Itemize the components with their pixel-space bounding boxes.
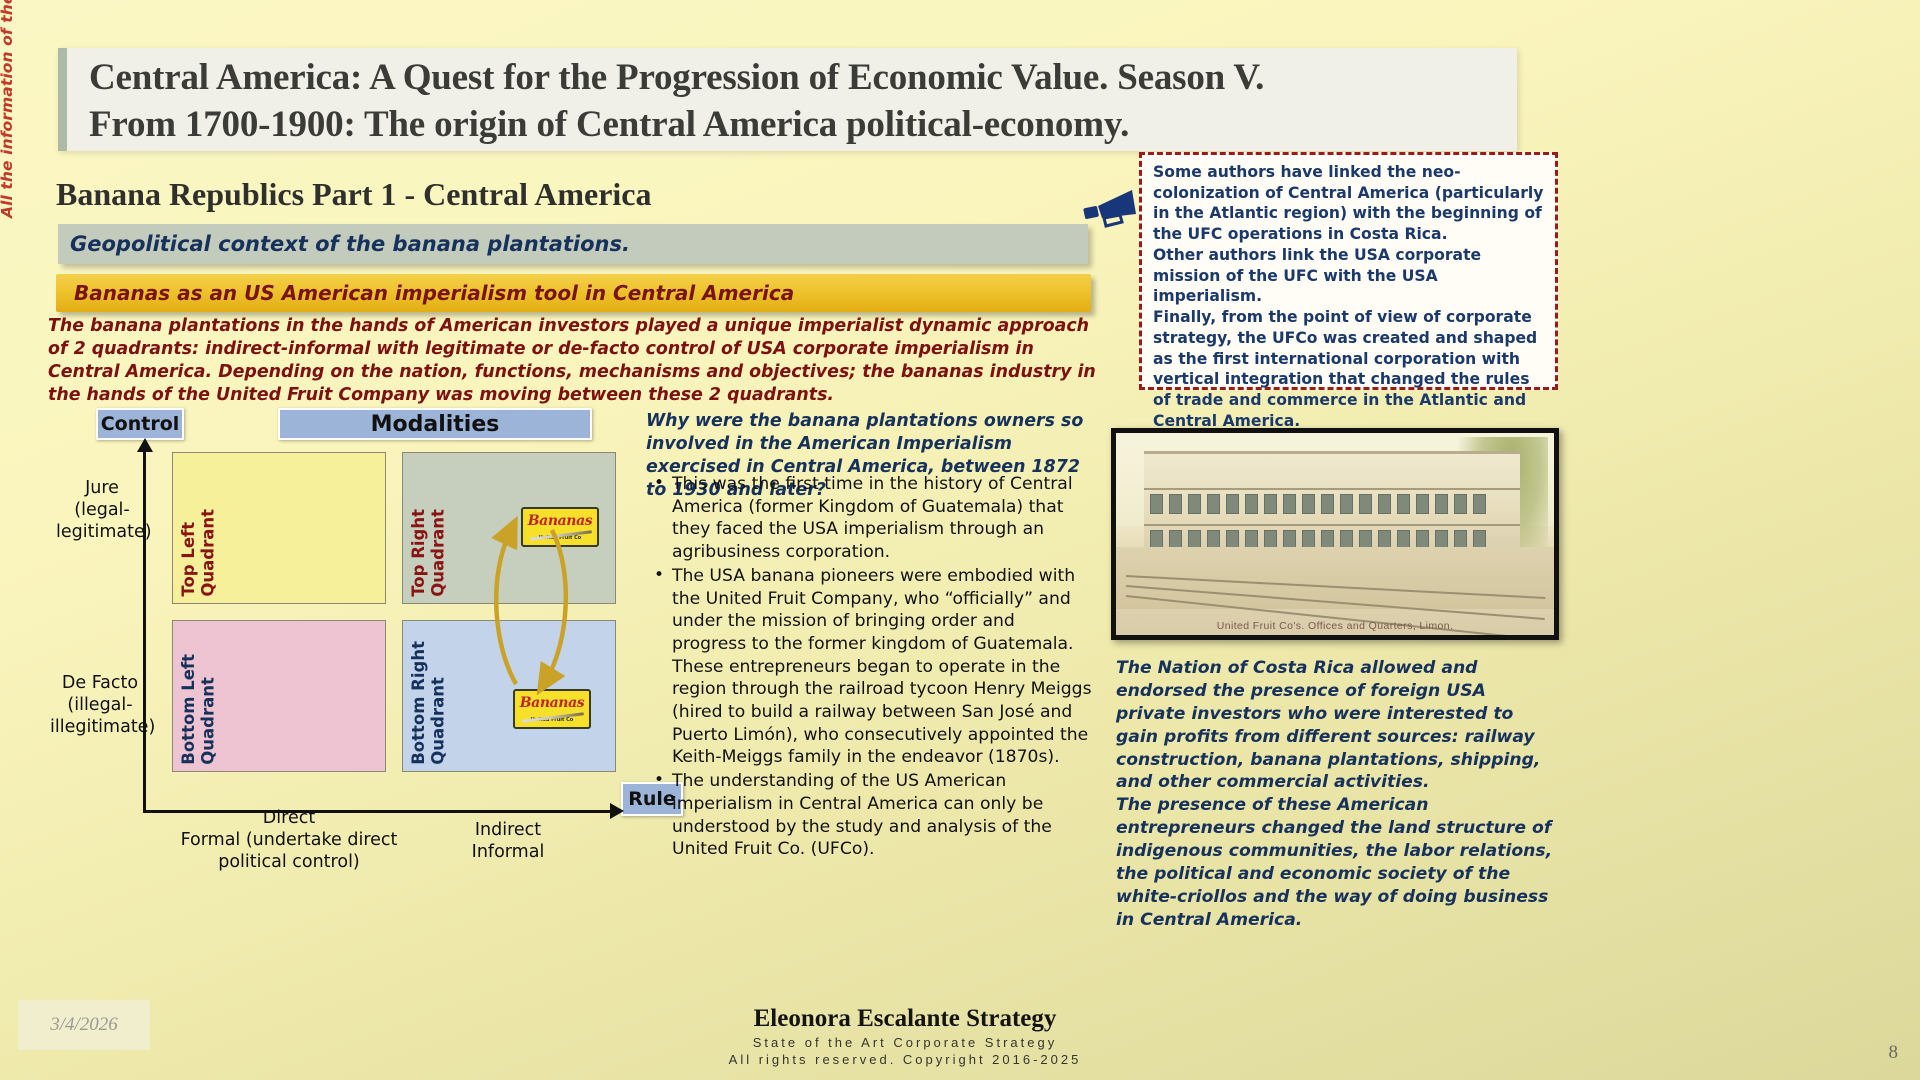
subtitle-bar: Geopolitical context of the banana plant…: [58, 224, 1088, 264]
list-item: This was the first time in the history o…: [650, 473, 1094, 564]
title-line-2: From 1700-1900: The origin of Central Am…: [89, 101, 1509, 148]
costa-rica-note: The Nation of Costa Rica allowed and end…: [1116, 657, 1561, 932]
photo-building: [1144, 451, 1520, 559]
authors-callout-box: Some authors have linked the neo-coloniz…: [1139, 152, 1558, 390]
quadrant-top-right-label: Top Right Quadrant: [409, 509, 448, 597]
quadrant-matrix-chart: Control Modalities Rule Jure (legal- leg…: [96, 408, 656, 888]
quadrant-top-left-label: Top Left Quadrant: [179, 509, 218, 597]
callout-paragraph-3: Finally, from the point of view of corpo…: [1153, 307, 1545, 431]
photo-inner: United Fruit Co's. Offices and Quarters,…: [1116, 433, 1554, 635]
quadrant-bottom-left: Bottom Left Quadrant: [172, 620, 386, 772]
photo-floor-line: [1144, 488, 1520, 490]
logo-wordmark: Bananas: [520, 696, 585, 710]
callout-paragraph-1: Some authors have linked the neo-coloniz…: [1153, 162, 1545, 245]
quadrant-bottom-right: Bottom Right Quadrant Bananas United Fru…: [402, 620, 616, 772]
megaphone-icon: [1080, 188, 1142, 238]
y-axis-label-bottom: De Facto (illegal- illegitimate): [50, 673, 150, 739]
historic-postcard-photo: United Fruit Co's. Offices and Quarters,…: [1111, 428, 1559, 640]
control-axis-chip: Control: [96, 408, 184, 440]
highlight-bar: Bananas as an US American imperialism to…: [56, 274, 1091, 312]
photo-caption: United Fruit Co's. Offices and Quarters,…: [1116, 620, 1554, 632]
logo-wordmark: Bananas: [528, 514, 593, 528]
photo-window-row: [1150, 494, 1514, 514]
date-badge: 3/4/2026: [18, 1000, 150, 1050]
x-axis-label-right: Indirect Informal: [448, 820, 568, 864]
quadrant-bottom-right-label: Bottom Right Quadrant: [409, 641, 448, 765]
brand-tagline: State of the Art Corporate Strategy: [645, 1035, 1165, 1050]
quadrant-bottom-left-label: Bottom Left Quadrant: [179, 654, 218, 765]
bibliography-side-note: All the information of these slides is s…: [0, 0, 16, 218]
list-item: The USA banana pioneers were embodied wi…: [650, 565, 1094, 769]
modalities-header-chip: Modalities: [278, 408, 592, 440]
subtitle-text: Geopolitical context of the banana plant…: [70, 232, 630, 256]
brand-copyright: All rights reserved. Copyright 2016-2025: [645, 1052, 1165, 1067]
y-axis-label-top: Jure (legal- legitimate): [56, 478, 148, 544]
photo-floor-line: [1144, 524, 1520, 526]
highlight-text: Bananas as an US American imperialism to…: [74, 281, 794, 305]
brand-name: Eleonora Escalante Strategy: [645, 1005, 1165, 1033]
callout-paragraph-2: Other authors link the USA corporate mis…: [1153, 245, 1545, 307]
page-number: 8: [1889, 1042, 1899, 1064]
brand-footer: Eleonora Escalante Strategy State of the…: [645, 1005, 1165, 1067]
quadrant-top-right: Top Right Quadrant Bananas United Fruit …: [402, 452, 616, 604]
quadrant-top-left: Top Left Quadrant: [172, 452, 386, 604]
x-axis-arrowhead: [610, 803, 624, 819]
section-heading: Banana Republics Part 1 - Central Americ…: [56, 176, 652, 213]
united-fruit-logo-icon: Bananas United Fruit Co: [521, 507, 599, 547]
list-item: The understanding of the US American imp…: [650, 770, 1094, 861]
united-fruit-logo-icon: Bananas United Fruit Co: [513, 689, 591, 729]
intro-paragraph: The banana plantations in the hands of A…: [48, 315, 1100, 407]
body-bullet-list: This was the first time in the history o…: [650, 473, 1094, 862]
slide-canvas: All the information of these slides is s…: [0, 0, 1920, 1080]
x-axis-label-left: Direct Formal (undertake direct politica…: [174, 808, 404, 874]
title-line-1: Central America: A Quest for the Progres…: [89, 54, 1509, 101]
slide-title-band: Central America: A Quest for the Progres…: [58, 48, 1517, 151]
